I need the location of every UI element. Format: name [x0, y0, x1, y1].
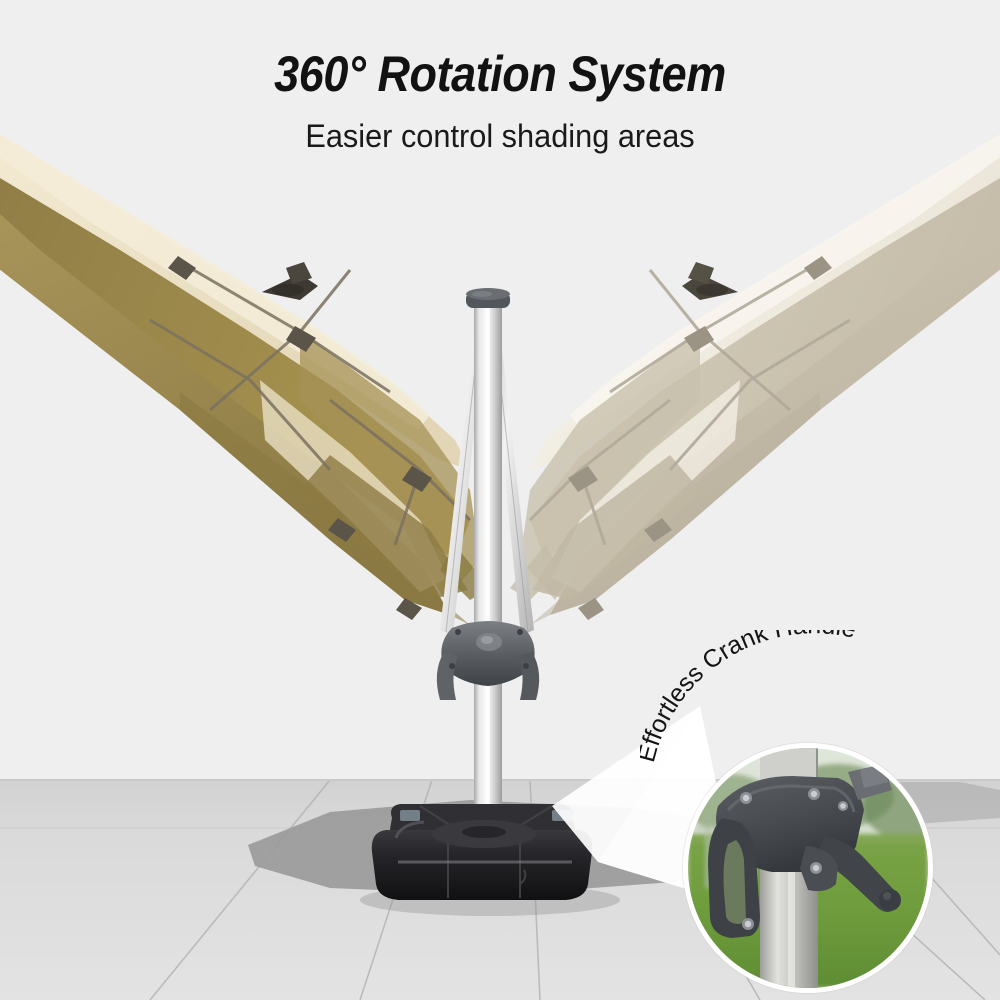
page-title: 360° Rotation System [50, 48, 950, 101]
mast-highlight [486, 300, 490, 845]
page-subtitle: Easier control shading areas [20, 118, 980, 155]
base-fill-cap-left [400, 810, 420, 821]
product-marketing-image: Effortless Crank Handle 360° Rotation Sy… [0, 0, 1000, 1000]
pivot-hub-highlight [481, 636, 493, 644]
umbrella-base [372, 804, 592, 900]
base-mast-collar [462, 826, 506, 838]
crank-handle-photo [688, 748, 928, 988]
mast-top-cap [466, 288, 510, 308]
crank-handle-inset [683, 743, 933, 993]
